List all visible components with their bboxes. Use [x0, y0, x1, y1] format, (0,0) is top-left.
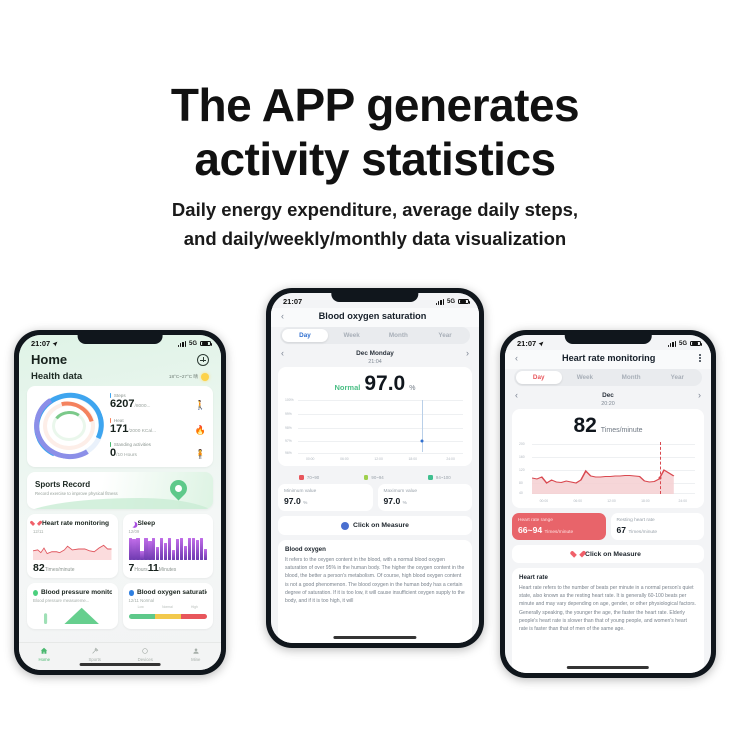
description-title: Blood oxygen — [285, 546, 465, 553]
battery-icon — [200, 341, 211, 347]
stat-label: Maximum value — [384, 489, 467, 495]
home-indicator — [333, 636, 416, 639]
heart-rate-area-series — [532, 440, 695, 494]
measure-button[interactable]: Click on Measure — [512, 545, 704, 563]
resting-heart-rate-card: Resting heart rate 67 Times/minute — [611, 513, 705, 540]
data-point — [420, 440, 423, 443]
metric-value: 6207 — [110, 398, 134, 410]
flame-icon: 🔥 — [195, 426, 206, 435]
location-arrow-icon — [538, 341, 544, 347]
mini-card-unit: Times/minute — [45, 567, 75, 573]
heart-icon — [33, 521, 39, 526]
subtitle-line-1: Daily energy expenditure, average daily … — [0, 196, 750, 225]
current-time-marker — [422, 400, 423, 452]
network-label: 5G — [679, 341, 687, 347]
tab-label: Home — [39, 657, 50, 662]
status-time: 21:07 — [31, 339, 50, 348]
metric-standing: Standing activities 0/10 Hours 🧍 — [110, 442, 206, 459]
status-badge: Normal — [335, 383, 361, 392]
stat-unit: % — [403, 501, 407, 506]
home-icon — [40, 647, 48, 655]
spo2-unit: % — [409, 385, 415, 392]
mini-card-title: Sleep — [138, 520, 156, 527]
metric-goal: /2000 KCal... — [128, 429, 156, 434]
sleep-mini-card[interactable]: Sleep 12/09 — [123, 514, 214, 578]
measure-label: Click on Measure — [353, 522, 409, 529]
phone-notch — [78, 335, 163, 344]
heart-rate-range-card: Heart rate range 66~94 Times/minute — [512, 513, 606, 540]
status-time: 21:07 — [517, 339, 536, 348]
spo2-value: 97.0 — [364, 373, 405, 394]
health-rings-card[interactable]: Steps 6207/8000... 🚶 Heat 171/2000 KCal.… — [27, 386, 213, 467]
back-button[interactable]: ‹ — [515, 354, 518, 363]
spo2-legend: 70~90 90~94 94~100 — [271, 471, 479, 480]
tab-year[interactable]: Year — [654, 371, 700, 385]
tab-label: Sports — [89, 657, 101, 662]
measure-label: Click on Measure — [585, 551, 641, 558]
stat-label: Minimum value — [284, 489, 367, 495]
heart-icon — [574, 551, 582, 558]
phone-notch — [331, 293, 418, 302]
spo2-icon — [129, 590, 134, 596]
heart-rate-mini-card[interactable]: Heart rate monitoring 12/11 82Times/minu… — [27, 514, 118, 578]
battery-icon — [458, 299, 469, 305]
measure-button[interactable]: Click on Measure — [278, 516, 472, 535]
home-page-title: Home — [31, 352, 67, 367]
prev-date-button[interactable]: ‹ — [281, 349, 284, 358]
stat-value: 97.0 — [284, 496, 301, 506]
tab-day[interactable]: Day — [282, 329, 329, 343]
home-indicator — [80, 663, 161, 666]
period-segmented-control[interactable]: Day Week Month Year — [514, 369, 702, 386]
reading-time: 20:20 — [505, 401, 711, 409]
health-data-heading: Health data — [31, 371, 82, 382]
headline-line-2: activity statistics — [194, 133, 555, 185]
spo2-chart-panel: Normal 97.0 % 100% 99% 98% 97% 96% — [278, 367, 472, 466]
stat-value: 67 — [617, 525, 627, 535]
sports-icon — [91, 647, 99, 655]
person-icon — [192, 647, 200, 655]
mini-card-title: Heart rate monitoring — [42, 520, 109, 527]
next-date-button[interactable]: › — [698, 391, 701, 400]
metric-value: 171 — [110, 423, 128, 435]
bp-legend: Low Normal High — [129, 605, 208, 609]
heart-rate-sparkline — [33, 538, 112, 560]
tab-week[interactable]: Week — [328, 329, 375, 343]
location-arrow-icon — [52, 341, 58, 347]
heart-rate-chart-panel: 82 Times/minute 200 160 120 80 40 — [512, 409, 704, 508]
mini-card-date: Blood pressure measureme... — [33, 598, 112, 603]
metric-label: Standing activities — [114, 442, 151, 447]
sidebar-item-sports[interactable]: Sports — [70, 647, 121, 662]
stat-label: Resting heart rate — [617, 518, 699, 524]
kebab-menu-icon[interactable] — [699, 354, 701, 362]
metric-heat: Heat 171/2000 KCal... 🔥 — [110, 418, 206, 435]
page-title: Heart rate monitoring — [562, 353, 655, 363]
weather-widget[interactable]: 18°C~27°C 晴 — [169, 373, 209, 381]
period-segmented-control[interactable]: Day Week Month Year — [280, 327, 470, 344]
standing-icon: 🧍 — [195, 450, 206, 459]
mini-card-title: Blood oxygen saturation — [137, 589, 207, 596]
sidebar-item-devices[interactable]: Devices — [120, 647, 171, 662]
decorative-wave — [27, 498, 213, 509]
blood-oxygen-description: Blood oxygen It refers to the oxygen con… — [278, 540, 472, 643]
walking-icon: 🚶 — [195, 401, 206, 410]
signal-icon — [436, 299, 444, 305]
signal-icon — [178, 341, 186, 347]
mini-card-value-2: 11 — [148, 562, 159, 574]
plus-circle-icon[interactable] — [197, 354, 209, 366]
description-title: Heart rate — [519, 574, 697, 581]
page-subtitle: Daily energy expenditure, average daily … — [0, 196, 750, 253]
next-date-button[interactable]: › — [466, 349, 469, 358]
network-label: 5G — [447, 299, 455, 305]
promo-page: The APP generates activity statistics Da… — [0, 0, 750, 750]
mini-card-unit: Hours — [134, 567, 147, 573]
weather-temp: 18°C~27°C 晴 — [169, 374, 198, 380]
mini-card-date: 12/11 Normal — [129, 598, 208, 603]
stat-unit: % — [303, 501, 307, 506]
sun-icon — [201, 373, 209, 381]
stat-unit: Times/minute — [628, 530, 657, 535]
mini-card-title: Blood pressure monitoring — [41, 589, 112, 596]
battery-icon — [690, 341, 701, 347]
sidebar-item-home[interactable]: Home — [19, 647, 70, 662]
tab-month[interactable]: Month — [608, 371, 654, 385]
subtitle-line-2: and daily/weekly/monthly data visualizat… — [0, 225, 750, 254]
bp-chart — [33, 606, 112, 624]
page-title: The APP generates activity statistics — [0, 78, 750, 187]
stat-value: 97.0 — [384, 496, 401, 506]
back-button[interactable]: ‹ — [281, 312, 284, 321]
devices-icon — [141, 647, 149, 655]
tab-year[interactable]: Year — [422, 329, 469, 343]
phone-mockup-heart-rate: 21:07 5G ‹ Heart rate monitoring Day — [500, 330, 716, 678]
stat-label: Heart rate range — [518, 518, 600, 524]
current-date-label: Dec Monday — [356, 350, 394, 357]
maximum-value-card: Maximum value 97.0 % — [378, 484, 473, 511]
spo2-range-bar — [129, 614, 208, 619]
current-date-label: Dec — [602, 392, 614, 399]
legend-item: 70~90 — [299, 475, 319, 480]
mini-card-value: 82 — [33, 562, 45, 574]
heart-rate-value: 82 — [573, 415, 596, 436]
description-body: It refers to the oxygen content in the b… — [285, 556, 465, 606]
data-point — [658, 477, 661, 480]
phone-mockup-blood-oxygen: 21:07 5G ‹ Blood oxygen saturation Day W… — [266, 288, 484, 648]
metric-goal: /10 Hours — [116, 453, 137, 458]
mini-card-unit-2: Minutes — [159, 567, 177, 573]
stat-value: 66~94 — [518, 525, 542, 535]
network-label: 5G — [189, 341, 197, 347]
activity-rings — [34, 393, 104, 459]
signal-icon — [668, 341, 676, 347]
heart-rate-chart: 200 160 120 80 40 — [519, 440, 697, 502]
phone-mockup-home: 21:07 5G Home Health data — [14, 330, 226, 675]
stat-unit: Times/minute — [545, 530, 574, 535]
home-indicator — [567, 666, 649, 669]
tab-label: Mine — [191, 657, 200, 662]
legend-item: 94~100 — [428, 475, 450, 480]
spo2-chart: 100% 99% 98% 97% 96% 00:00 06:00 12:00 — [285, 398, 465, 460]
headline-line-1: The APP generates — [171, 79, 579, 131]
heart-rate-description: Heart rate Heart rate refers to the numb… — [512, 568, 704, 673]
blood-oxygen-mini-card[interactable]: Blood oxygen saturation 12/11 Normal Low… — [123, 583, 214, 629]
current-time-marker — [660, 442, 661, 494]
sleep-bars-chart — [129, 538, 208, 560]
spo2-icon — [341, 522, 349, 530]
tab-week[interactable]: Week — [562, 371, 608, 385]
tab-month[interactable]: Month — [375, 329, 422, 343]
phone-notch — [565, 335, 652, 344]
prev-date-button[interactable]: ‹ — [515, 391, 518, 400]
heart-rate-unit: Times/minute — [601, 427, 643, 434]
moon-icon — [128, 520, 136, 528]
blood-pressure-mini-card[interactable]: Blood pressure monitoring Blood pressure… — [27, 583, 118, 629]
tab-day[interactable]: Day — [516, 371, 562, 385]
bp-icon — [33, 590, 38, 596]
mini-card-date: 12/11 — [33, 529, 112, 534]
status-time: 21:07 — [283, 297, 302, 306]
sidebar-item-mine[interactable]: Mine — [171, 647, 222, 662]
legend-item: 90~94 — [364, 475, 384, 480]
page-title: Blood oxygen saturation — [319, 311, 427, 321]
mini-card-date: 12/09 — [129, 529, 208, 534]
description-body: Heart rate refers to the number of beats… — [519, 584, 697, 634]
metric-steps: Steps 6207/8000... 🚶 — [110, 393, 206, 410]
minimum-value-card: Minimum value 97.0 % — [278, 484, 373, 511]
tab-label: Devices — [138, 657, 153, 662]
sports-record-card[interactable]: Sports Record Record exercise to improve… — [27, 472, 213, 509]
metric-goal: /8000... — [134, 404, 150, 409]
reading-time: 21:04 — [271, 359, 479, 367]
